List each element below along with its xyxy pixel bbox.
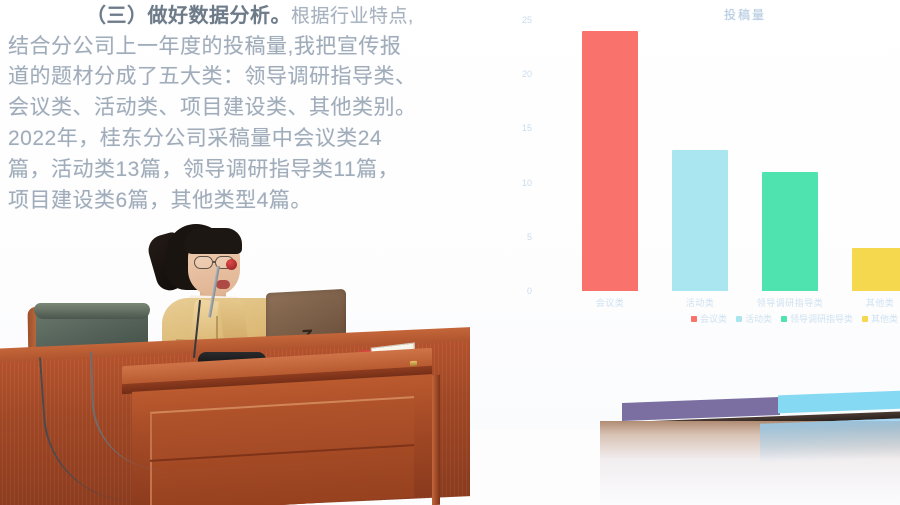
x-axis-label: 领导调研指导类 <box>757 296 824 309</box>
x-axis-label: 会议类 <box>596 296 625 309</box>
legend-swatch-icon <box>736 316 742 322</box>
y-axis-tick: 5 <box>527 232 532 242</box>
slide-heading-bold: （三）做好数据分析。 <box>86 5 291 27</box>
floor-reflection <box>760 418 900 464</box>
slide-line: 篇，活动类13篇，领导调研指导类11篇， <box>8 155 513 186</box>
legend-item: 领导调研指导类 <box>781 312 853 325</box>
legend-swatch-icon <box>862 316 868 322</box>
y-axis-tick: 10 <box>522 178 532 188</box>
legend-item: 其他类 <box>862 312 898 325</box>
bar <box>852 248 900 291</box>
slide-line: 项目建设类6篇，其他类型4篇。 <box>8 186 513 217</box>
bar-chart: 投稿量 0510152025会议类活动类领导调研指导类其他类 会议类活动类领导调… <box>500 0 900 340</box>
hair-front <box>184 228 242 254</box>
slide-line: 2022年，桂东分公司采稿量中会议类24 <box>8 124 513 155</box>
slide-line: 结合分公司上一年度的投稿量,我把宣传报 <box>8 32 513 63</box>
legend-item: 会议类 <box>691 312 727 325</box>
glasses-left-lens <box>194 256 213 269</box>
y-axis-tick: 25 <box>522 15 532 25</box>
legend-label: 会议类 <box>700 312 727 325</box>
slide-heading: （三）做好数据分析。根据行业特点, <box>8 2 513 31</box>
legend-swatch-icon <box>691 316 697 322</box>
y-axis-tick: 20 <box>522 69 532 79</box>
slide-line: 会议类、活动类、项目建设类、其他类别。 <box>8 93 513 124</box>
legend-item: 活动类 <box>736 312 772 325</box>
legend-label: 其他类 <box>871 312 898 325</box>
mouth <box>216 280 230 289</box>
x-axis-label: 活动类 <box>686 296 715 309</box>
y-axis-tick: 15 <box>522 123 532 133</box>
bar <box>762 172 818 291</box>
glasses-bridge <box>213 261 216 263</box>
chart-plot-area: 0510152025会议类活动类领导调研指导类其他类 <box>540 20 900 291</box>
chair-headrest <box>34 303 150 319</box>
slide-text-block: （三）做好数据分析。根据行业特点, 结合分公司上一年度的投稿量,我把宣传报 道的… <box>8 2 513 217</box>
slide-heading-tail: 根据行业特点, <box>291 6 414 27</box>
legend-label: 领导调研指导类 <box>790 312 853 325</box>
microphone-head <box>226 259 237 270</box>
bar <box>672 150 728 291</box>
screen-strip-cyan <box>778 391 900 414</box>
y-axis-tick: 0 <box>527 286 532 296</box>
legend-label: 活动类 <box>745 312 772 325</box>
chart-legend: 会议类活动类领导调研指导类其他类 <box>500 312 900 325</box>
brass-fitting <box>410 361 417 366</box>
table-right-edge <box>432 375 440 505</box>
presentation-photo: （三）做好数据分析。根据行业特点, 结合分公司上一年度的投稿量,我把宣传报 道的… <box>0 0 900 505</box>
legend-swatch-icon <box>781 316 787 322</box>
slide-line: 道的题材分成了五大类：领导调研指导类、 <box>8 62 513 93</box>
x-axis-label: 其他类 <box>866 296 895 309</box>
bar <box>582 31 638 291</box>
